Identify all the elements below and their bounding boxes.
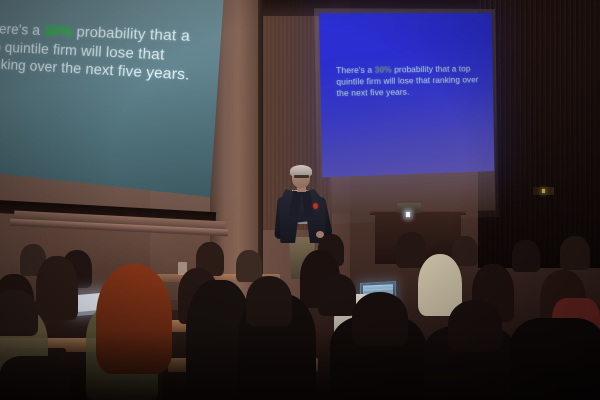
audience-head-f8 (512, 240, 540, 272)
audience-head-f7 (452, 236, 478, 266)
audience-head-n6 (510, 318, 600, 400)
audience-head-f9 (560, 236, 590, 270)
left-projection-screen: There's a 30% probability that a top qui… (0, 0, 224, 197)
left-slide-highlight: 30% (44, 23, 74, 40)
right-slide-highlight: 30% (375, 65, 392, 74)
wall-indicator-light (533, 187, 554, 195)
presentation-photo: There's a 30% probability that a top qui… (0, 0, 600, 400)
presenter-lapel-pin (313, 203, 318, 209)
right-slide-text: There's a 30% probability that a top qui… (336, 63, 481, 100)
right-slide-text-before: There's a (336, 66, 375, 76)
audience-head-n5b (448, 300, 502, 352)
audience-head-f6 (396, 232, 426, 268)
audience-head-m2 (36, 256, 78, 320)
audience-red-hair (96, 264, 172, 374)
audience-head-white-shirt (318, 274, 356, 316)
podium-laptop-light (406, 212, 410, 217)
audience-head-n7 (0, 356, 70, 400)
audience-head-n4b (352, 292, 408, 346)
audience-head-n3b (246, 276, 292, 326)
presenter-glasses (294, 175, 309, 178)
audience (0, 230, 600, 400)
audience-head-n1 (0, 290, 38, 336)
right-projection-screen: There's a 30% probability that a top qui… (319, 13, 494, 177)
left-slide-text-before: There's a (0, 21, 45, 38)
